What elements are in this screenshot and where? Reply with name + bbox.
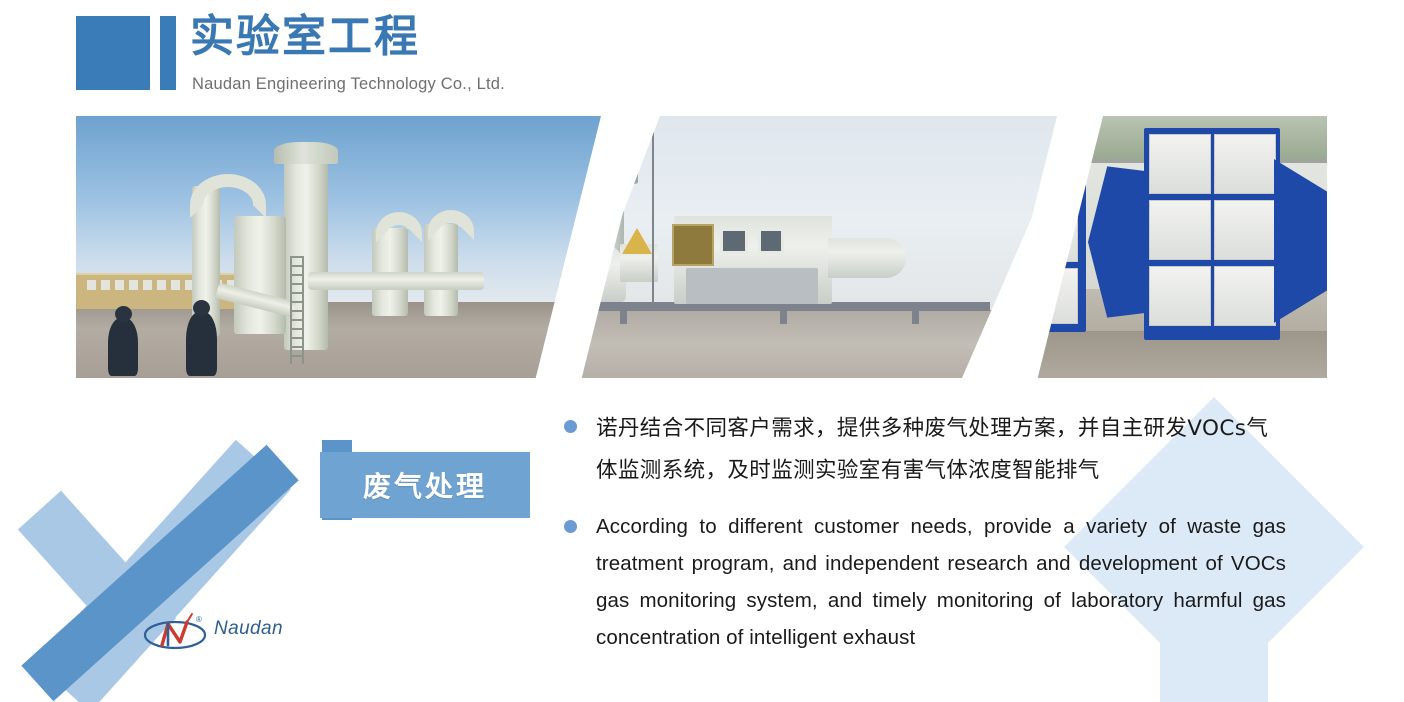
photo3-door-m22 — [1214, 200, 1276, 260]
photo3-door-m32 — [1214, 266, 1276, 326]
svg-text:®: ® — [196, 615, 202, 624]
photo1-main-stack-cap — [274, 142, 338, 164]
photo2-skid-leg-a — [620, 302, 627, 324]
photo3-door-m31 — [1149, 266, 1211, 326]
page-title: 实验室工程 — [190, 8, 420, 66]
photo1-worker-right — [186, 312, 217, 376]
photo2-plinth — [686, 268, 818, 304]
category-badge-label: 废气处理 — [363, 465, 487, 505]
gallery-photo-treatment-unit — [560, 116, 1076, 378]
photo2-outlet-duct — [828, 238, 906, 278]
photo3-door-m11 — [1149, 134, 1211, 194]
bullet-text-chinese: 诺丹结合不同客户需求，提供多种废气处理方案，并自主研发VOCs气体监测系统，及时… — [596, 408, 1286, 492]
photo1-worker-right-head — [193, 300, 210, 316]
photo3-door-m21 — [1149, 200, 1211, 260]
naudan-logo: ® Naudan — [142, 610, 302, 656]
gallery-photo-scrubber-towers — [76, 116, 616, 378]
photo1-worker-left — [108, 318, 138, 376]
header-accent-block-large — [76, 16, 150, 90]
photo1-access-ladder — [290, 256, 304, 364]
company-subtitle: Naudan Engineering Technology Co., Ltd. — [192, 75, 505, 94]
bullet-marker-icon — [564, 420, 577, 433]
bullet-item-english: According to different customer needs, p… — [556, 508, 1286, 656]
photo3-door-m12 — [1214, 134, 1276, 194]
slide-header: 实验室工程 Naudan Engineering Technology Co.,… — [0, 0, 1404, 112]
bullet-list: 诺丹结合不同客户需求，提供多种废气处理方案，并自主研发VOCs气体监测系统，及时… — [556, 408, 1286, 672]
photo2-inspection-window-b — [758, 228, 784, 254]
photo1-ground — [76, 302, 616, 378]
photo1-worker-left-head — [115, 306, 132, 322]
photo1-header-pipe — [308, 272, 484, 290]
naudan-logo-wordmark: Naudan — [214, 618, 283, 640]
photo2-inspection-window-a — [720, 228, 748, 254]
photo2-skid-leg-c — [912, 302, 919, 324]
category-badge: 废气处理 — [320, 452, 530, 518]
bullet-text-english: According to different customer needs, p… — [596, 508, 1286, 656]
header-accent-block-bar — [160, 16, 176, 90]
naudan-logo-mark-icon: ® — [142, 612, 212, 652]
photo2-control-panel — [672, 224, 714, 266]
bullet-marker-icon — [564, 520, 577, 533]
photo-gallery-strip — [76, 116, 1327, 378]
slide-canvas: 实验室工程 Naudan Engineering Technology Co.,… — [0, 0, 1404, 702]
photo1-scrubber-vessel — [234, 216, 286, 334]
photo2-skid-leg-b — [780, 302, 787, 324]
bullet-item-chinese: 诺丹结合不同客户需求，提供多种废气处理方案，并自主研发VOCs气体监测系统，及时… — [556, 408, 1286, 492]
photo2-warning-sign — [622, 228, 652, 254]
photo2-mast — [652, 120, 654, 308]
